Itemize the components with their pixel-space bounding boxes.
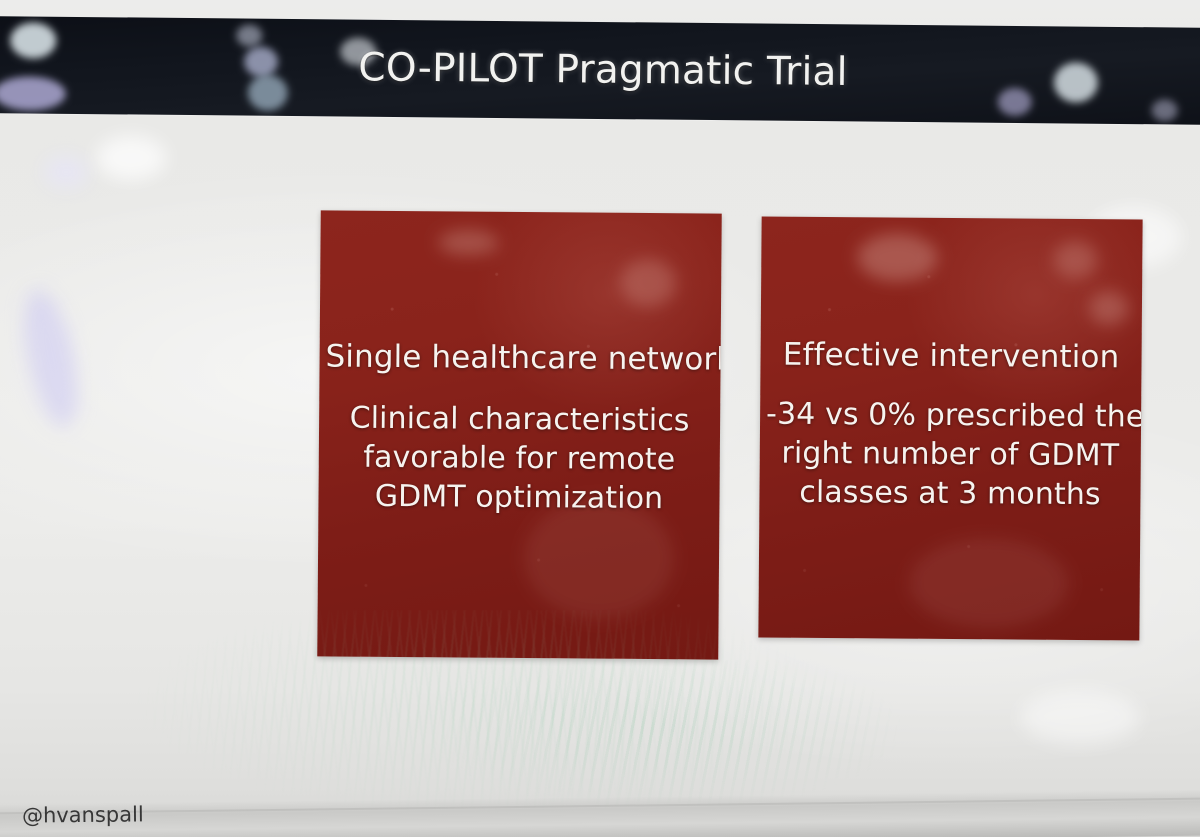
content-box-right-body-line: -34 vs 0% prescribed the [766, 394, 1135, 436]
content-box-left-body-line: favorable for remote [325, 437, 714, 479]
slide-title-bar: CO-PILOT Pragmatic Trial [0, 16, 1200, 125]
box-glare [1053, 241, 1097, 279]
box-glare [620, 259, 676, 307]
box-glare [857, 233, 937, 282]
content-box-left-text: Single healthcare network Clinical chara… [318, 338, 720, 518]
bokeh-blob [1152, 99, 1178, 121]
content-box-left-body-line: Clinical characteristics [325, 398, 714, 440]
box-glare [438, 229, 498, 255]
content-box-left: Single healthcare network Clinical chara… [317, 210, 721, 659]
content-box-right-body-line: right number of GDMT [766, 433, 1135, 475]
slide-content: CO-PILOT Pragmatic Trial Single healthca… [0, 0, 1200, 837]
content-box-right-text: Effective intervention -34 vs 0% prescri… [759, 337, 1141, 515]
content-box-right: Effective intervention -34 vs 0% prescri… [758, 217, 1142, 641]
slide-photo: CO-PILOT Pragmatic Trial Single healthca… [0, 0, 1200, 837]
content-box-left-heading-line: Single healthcare network [325, 338, 714, 379]
content-box-left-body: Clinical characteristics favorable for r… [324, 398, 714, 518]
content-box-left-heading: Single healthcare network [325, 338, 714, 379]
content-box-right-body: -34 vs 0% prescribed the right number of… [765, 394, 1135, 514]
box-glare [908, 538, 1069, 629]
slide-title: CO-PILOT Pragmatic Trial [0, 41, 1200, 98]
content-box-right-heading: Effective intervention [766, 337, 1135, 378]
content-box-right-body-line: classes at 3 months [765, 472, 1134, 514]
box-glare [1089, 291, 1129, 325]
content-box-left-body-line: GDMT optimization [324, 476, 713, 518]
content-box-right-heading-line: Effective intervention [766, 337, 1135, 378]
author-watermark: @hvanspall [22, 802, 144, 827]
